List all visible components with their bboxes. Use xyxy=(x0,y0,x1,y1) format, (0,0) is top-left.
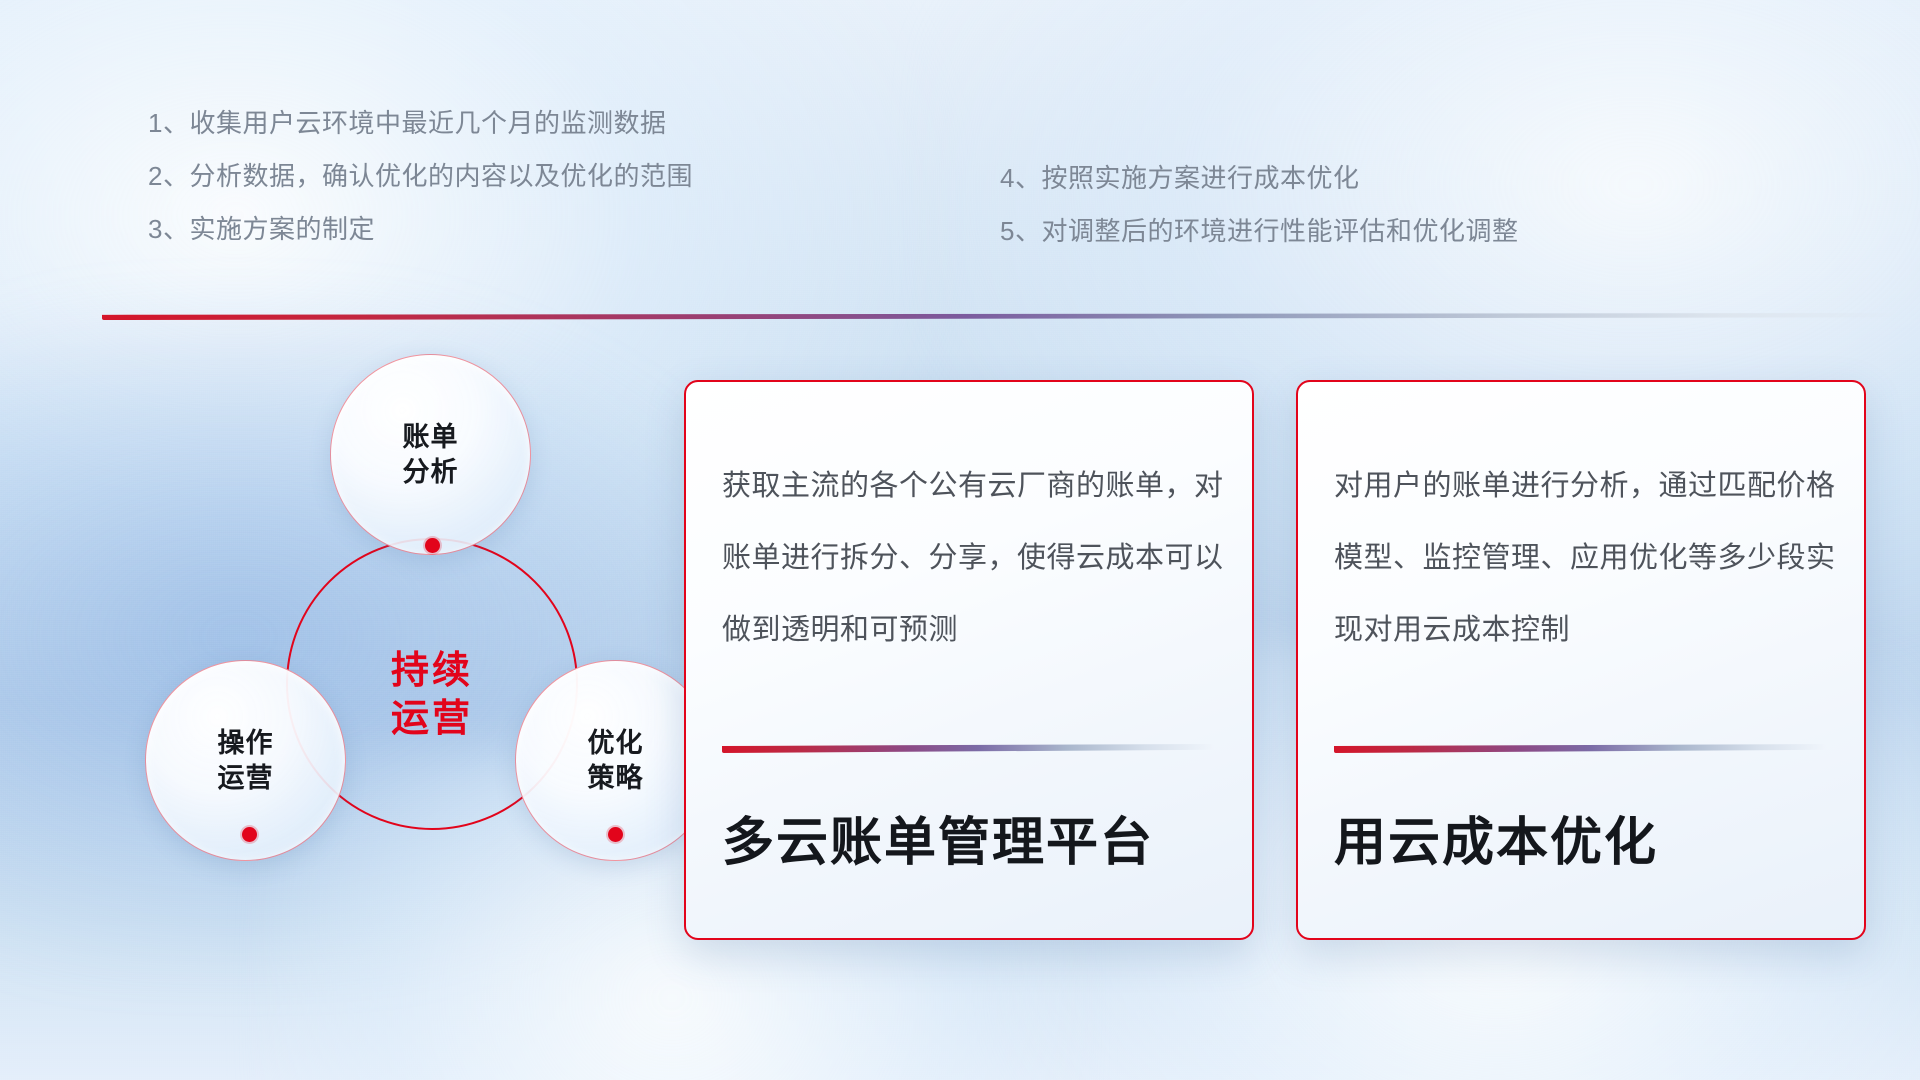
card-divider-rule xyxy=(1334,744,1826,753)
step-item-4: 4、按照实施方案进行成本优化 xyxy=(1000,152,1518,205)
bubble-label-line2: 分析 xyxy=(403,455,459,490)
step-item-1: 1、收集用户云环境中最近几个月的监测数据 xyxy=(148,97,693,150)
card-title: 多云账单管理平台 xyxy=(722,800,1154,875)
diagram-node-dot-top xyxy=(425,538,440,553)
diagram-node-dot-bottom-left xyxy=(242,827,257,842)
card-body-text: 获取主流的各个公有云厂商的账单，对账单进行拆分、分享，使得云成本可以做到透明和可… xyxy=(722,450,1226,666)
card-divider-rule xyxy=(722,744,1214,753)
continuous-operation-diagram: 持续 运营 账单 分析 操作 运营 优化 策略 xyxy=(90,360,630,920)
bubble-label-line2: 策略 xyxy=(588,761,644,796)
step-item-5: 5、对调整后的环境进行性能评估和优化调整 xyxy=(1000,205,1518,258)
steps-right-column: 4、按照实施方案进行成本优化 5、对调整后的环境进行性能评估和优化调整 xyxy=(1000,152,1518,258)
diagram-center-label-line1: 持续 xyxy=(391,647,473,695)
diagram-bubble-bill-analysis[interactable]: 账单 分析 xyxy=(330,354,531,555)
card-title: 用云成本优化 xyxy=(1334,800,1658,875)
bubble-label-line2: 运营 xyxy=(218,761,274,796)
steps-left-column: 1、收集用户云环境中最近几个月的监测数据 2、分析数据，确认优化的内容以及优化的… xyxy=(148,97,693,256)
diagram-center-label-line2: 运营 xyxy=(391,695,473,743)
card-body-text: 对用户的账单进行分析，通过匹配价格模型、监控管理、应用优化等多少段实现对用云成本… xyxy=(1334,450,1838,666)
step-item-2: 2、分析数据，确认优化的内容以及优化的范围 xyxy=(148,150,693,203)
step-item-3: 3、实施方案的制定 xyxy=(148,203,693,256)
bubble-label-line1: 账单 xyxy=(403,420,459,455)
card-multicloud-billing-platform[interactable]: 获取主流的各个公有云厂商的账单，对账单进行拆分、分享，使得云成本可以做到透明和可… xyxy=(684,380,1254,940)
bubble-label-line1: 操作 xyxy=(218,726,274,761)
bubble-label-line1: 优化 xyxy=(588,726,644,761)
diagram-node-dot-bottom-right xyxy=(608,827,623,842)
card-cloud-cost-optimization[interactable]: 对用户的账单进行分析，通过匹配价格模型、监控管理、应用优化等多少段实现对用云成本… xyxy=(1296,380,1866,940)
